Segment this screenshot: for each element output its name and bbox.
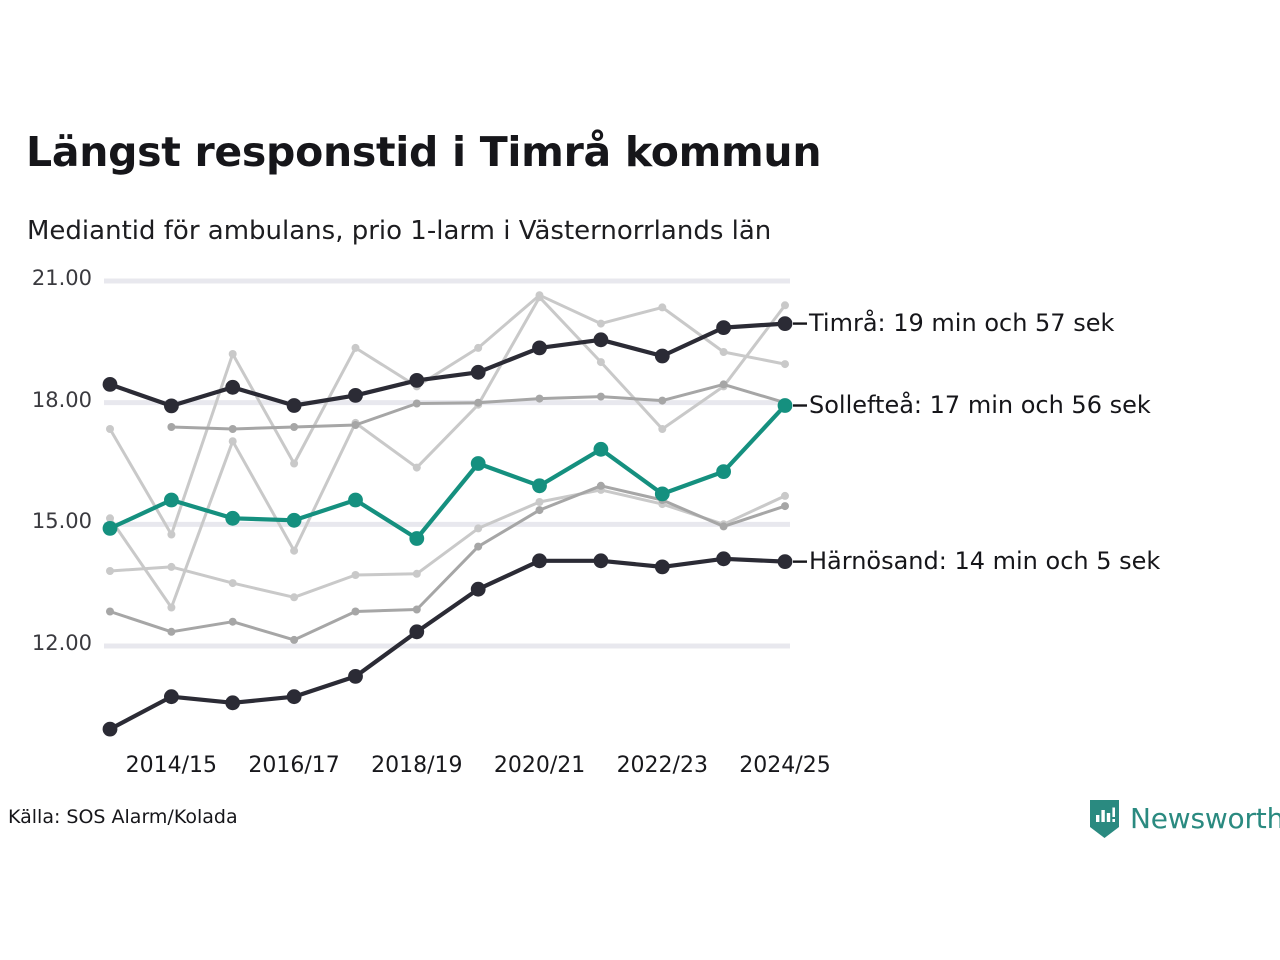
- data-point: [290, 593, 298, 601]
- series-line-context-2: [110, 297, 785, 607]
- data-point: [229, 579, 237, 587]
- data-point: [781, 492, 789, 500]
- data-point: [290, 636, 298, 644]
- data-point: [229, 425, 237, 433]
- data-point: [413, 570, 421, 578]
- data-point: [164, 689, 179, 704]
- data-point: [536, 395, 544, 403]
- data-point: [597, 320, 605, 328]
- data-point: [348, 388, 363, 403]
- data-point: [471, 582, 486, 597]
- data-point: [225, 380, 240, 395]
- data-point: [778, 554, 793, 569]
- data-point: [167, 628, 175, 636]
- y-tick-15.00: 15.00: [8, 509, 92, 533]
- data-point: [716, 551, 731, 566]
- series-label-timr-: Timrå: 19 min och 57 sek: [809, 309, 1114, 337]
- data-point: [167, 531, 175, 539]
- data-point: [781, 301, 789, 309]
- data-point: [106, 608, 114, 616]
- data-point: [597, 482, 605, 490]
- data-point: [352, 421, 360, 429]
- data-point: [716, 320, 731, 335]
- data-point: [352, 344, 360, 352]
- data-point: [594, 332, 609, 347]
- data-point: [658, 425, 666, 433]
- data-point: [474, 524, 482, 532]
- data-point: [290, 547, 298, 555]
- data-point: [471, 456, 486, 471]
- data-point: [720, 380, 728, 388]
- source-note: Källa: SOS Alarm/Kolada: [8, 806, 238, 828]
- data-point: [164, 399, 179, 414]
- data-point: [658, 397, 666, 405]
- series-label-sollefte-: Sollefteå: 17 min och 56 sek: [809, 391, 1151, 419]
- data-point: [287, 689, 302, 704]
- data-point: [348, 669, 363, 684]
- data-point: [781, 502, 789, 510]
- series-label-h-rn-sand: Härnösand: 14 min och 5 sek: [809, 547, 1160, 575]
- data-point: [474, 344, 482, 352]
- bar-chart-pin-icon: [1088, 798, 1121, 838]
- chart-figure: Längst responstid i Timrå kommun Mediant…: [0, 0, 1280, 960]
- data-point: [778, 398, 793, 413]
- logo-wordmark: Newsworthy: [1130, 802, 1280, 835]
- data-point: [167, 563, 175, 571]
- data-point: [290, 460, 298, 468]
- series-line-context-4: [110, 490, 785, 597]
- data-point: [287, 513, 302, 528]
- data-point: [352, 571, 360, 579]
- data-point: [720, 348, 728, 356]
- data-point: [348, 493, 363, 508]
- data-point: [225, 511, 240, 526]
- data-point: [106, 425, 114, 433]
- data-point: [167, 604, 175, 612]
- data-point: [164, 493, 179, 508]
- data-point: [103, 722, 118, 737]
- data-point: [103, 377, 118, 392]
- series-line-sollefte-: [110, 406, 785, 539]
- newsworthy-logo: Newsworthy: [1088, 798, 1280, 838]
- x-tick-2024-25: 2024/25: [710, 753, 860, 778]
- y-tick-12.00: 12.00: [8, 631, 92, 655]
- data-point: [536, 293, 544, 301]
- data-point: [471, 365, 486, 380]
- data-point: [413, 400, 421, 408]
- data-point: [352, 608, 360, 616]
- data-point: [597, 393, 605, 401]
- data-point: [106, 567, 114, 575]
- data-point: [720, 522, 728, 530]
- data-point: [597, 358, 605, 366]
- data-point: [413, 464, 421, 472]
- data-point: [229, 618, 237, 626]
- data-point: [716, 464, 731, 479]
- data-point: [655, 349, 670, 364]
- data-point: [474, 399, 482, 407]
- data-point: [409, 373, 424, 388]
- data-point: [594, 442, 609, 457]
- data-point: [229, 350, 237, 358]
- data-point: [536, 506, 544, 514]
- data-point: [409, 624, 424, 639]
- data-point: [413, 606, 421, 614]
- data-point: [532, 553, 547, 568]
- data-point: [229, 437, 237, 445]
- data-point: [655, 560, 670, 575]
- data-point: [778, 316, 793, 331]
- y-tick-18.00: 18.00: [8, 388, 92, 412]
- data-point: [781, 360, 789, 368]
- data-point: [103, 521, 118, 536]
- data-point: [658, 303, 666, 311]
- y-tick-21.00: 21.00: [8, 266, 92, 290]
- data-point: [409, 531, 424, 546]
- data-point: [532, 478, 547, 493]
- data-point: [536, 498, 544, 506]
- data-point: [594, 553, 609, 568]
- data-point: [287, 398, 302, 413]
- data-point: [532, 341, 547, 356]
- data-point: [474, 543, 482, 551]
- data-point: [655, 487, 670, 502]
- data-point: [225, 695, 240, 710]
- data-point: [167, 423, 175, 431]
- data-point: [290, 423, 298, 431]
